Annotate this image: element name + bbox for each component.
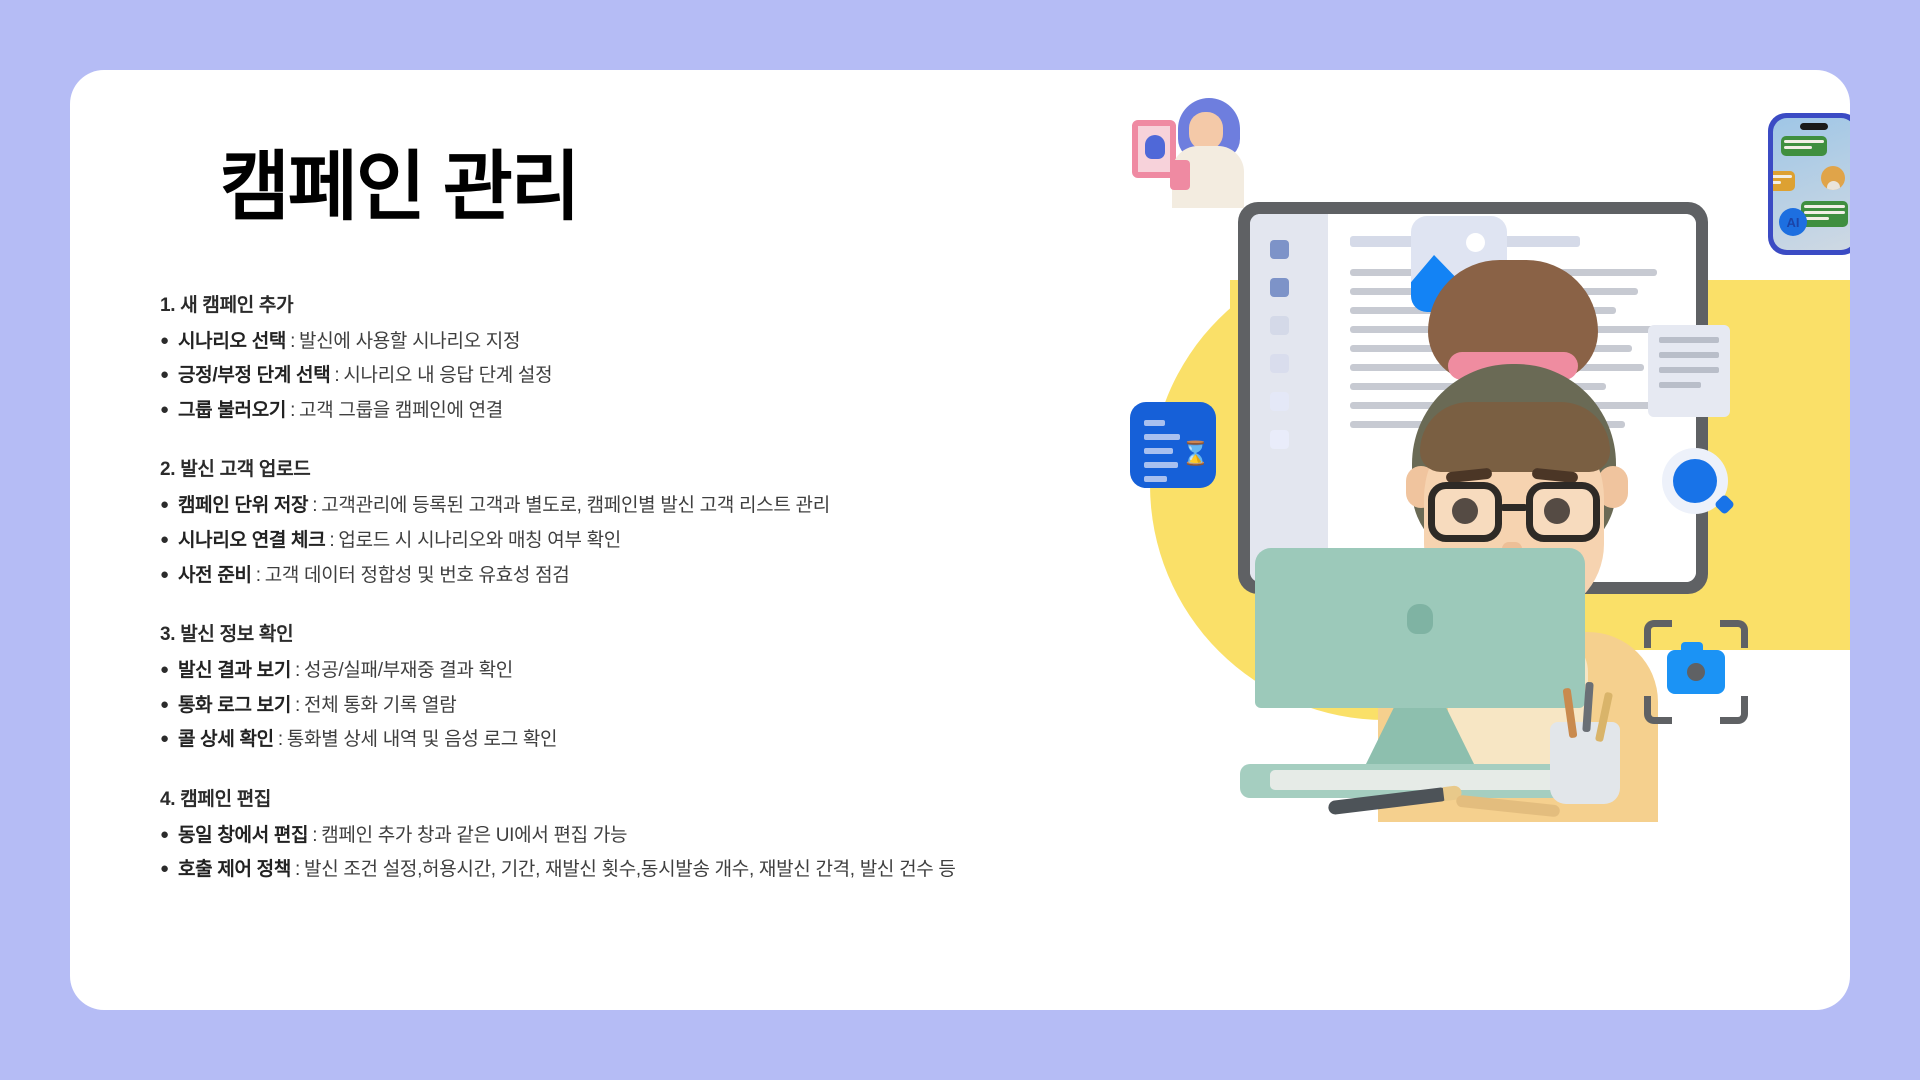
keyboard-icon xyxy=(1270,770,1570,790)
sidebar-square-icon xyxy=(1270,278,1289,297)
doc-line xyxy=(1144,476,1167,482)
chat-bubble-icon xyxy=(1781,136,1827,156)
list-item: ● 동일 창에서 편집 : 캠페인 추가 창과 같은 UI에서 편집 가능 xyxy=(160,822,1240,850)
bullet-list: ● 발신 결과 보기 : 성공/실패/부재중 결과 확인 ● 통화 로그 보기 … xyxy=(160,657,1240,754)
bullet-list: ● 동일 창에서 편집 : 캠페인 추가 창과 같은 UI에서 편집 가능 ● … xyxy=(160,822,1240,884)
doc-line xyxy=(1144,420,1165,426)
character-fringe xyxy=(1420,402,1610,472)
hourglass-icon: ⌛ xyxy=(1181,442,1199,468)
avatar-icon xyxy=(1821,166,1845,190)
bullet-description: 고객관리에 등록된 고객과 별도로, 캠페인별 발신 고객 리스트 관리 xyxy=(321,492,830,520)
bullet-dot-icon: ● xyxy=(160,532,178,547)
bullet-term: 그룹 불러오기 xyxy=(178,397,286,425)
scan-corner xyxy=(1720,696,1748,724)
bullet-description: 성공/실패/부재중 결과 확인 xyxy=(304,657,513,685)
bullet-description: 발신 조건 설정,허용시간, 기간, 재발신 횟수,동시발송 개수, 재발신 간… xyxy=(304,856,956,884)
bullet-term: 호출 제어 정책 xyxy=(178,856,291,884)
frame-figure xyxy=(1145,135,1165,159)
list-item: ● 시나리오 연결 체크 : 업로드 시 시나리오와 매칭 여부 확인 xyxy=(160,527,1240,555)
bullet-separator: : xyxy=(291,657,304,685)
laptop-screen xyxy=(1255,548,1585,708)
blue-document-icon: ⌛ xyxy=(1130,402,1216,488)
ai-badge-icon: AI xyxy=(1779,208,1807,236)
bullet-dot-icon: ● xyxy=(160,567,178,582)
phone-screen: AI xyxy=(1773,118,1850,250)
bullet-term: 사전 준비 xyxy=(178,562,252,590)
bullet-description: 통화별 상세 내역 및 음성 로그 확인 xyxy=(287,726,557,754)
bullet-dot-icon: ● xyxy=(160,367,178,382)
bullet-description: 전체 통화 기록 열람 xyxy=(304,692,456,720)
list-item: ● 긍정/부정 단계 선택 : 시나리오 내 응답 단계 설정 xyxy=(160,362,1240,390)
bullet-separator: : xyxy=(308,492,321,520)
bullet-dot-icon: ● xyxy=(160,827,178,842)
camera-scan-frame-icon xyxy=(1644,620,1748,724)
bullet-term: 시나리오 연결 체크 xyxy=(178,527,325,555)
mini-person-illustration xyxy=(1132,98,1242,208)
bullet-separator: : xyxy=(291,856,304,884)
camera-lens xyxy=(1687,663,1705,681)
bullet-description: 고객 데이터 정합성 및 번호 유효성 점검 xyxy=(265,562,570,590)
bullet-term: 시나리오 선택 xyxy=(178,328,286,356)
bullet-term: 발신 결과 보기 xyxy=(178,657,291,685)
bullet-dot-icon: ● xyxy=(160,333,178,348)
section-heading: 1. 새 캠페인 추가 xyxy=(160,290,1240,317)
list-item: ● 시나리오 선택 : 발신에 사용할 시나리오 지정 xyxy=(160,328,1240,356)
glasses-lens-right xyxy=(1526,482,1600,542)
phone-notch xyxy=(1800,123,1828,130)
bullet-term: 동일 창에서 편집 xyxy=(178,822,308,850)
list-item: ● 캠페인 단위 저장 : 고객관리에 등록된 고객과 별도로, 캠페인별 발신… xyxy=(160,492,1240,520)
list-item: ● 사전 준비 : 고객 데이터 정합성 및 번호 유효성 점검 xyxy=(160,562,1240,590)
sidebar-square-icon xyxy=(1270,430,1289,449)
bullet-dot-icon: ● xyxy=(160,731,178,746)
bullet-list: ● 시나리오 선택 : 발신에 사용할 시나리오 지정 ● 긍정/부정 단계 선… xyxy=(160,328,1240,425)
bullet-term: 통화 로그 보기 xyxy=(178,692,291,720)
mini-person-face xyxy=(1189,112,1223,150)
bullet-description: 고객 그룹을 캠페인에 연결 xyxy=(299,397,503,425)
section-heading: 4. 캠페인 편집 xyxy=(160,784,1240,811)
section-edit-campaign: 4. 캠페인 편집 ● 동일 창에서 편집 : 캠페인 추가 창과 같은 UI에… xyxy=(160,784,1240,884)
monitor-sidebar xyxy=(1250,214,1328,582)
content-column: 캠페인 관리 1. 새 캠페인 추가 ● 시나리오 선택 : 발신에 사용할 시… xyxy=(160,130,1240,884)
glasses-lens-left xyxy=(1428,482,1502,542)
sidebar-square-icon xyxy=(1270,316,1289,335)
bullet-dot-icon: ● xyxy=(160,497,178,512)
section-new-campaign: 1. 새 캠페인 추가 ● 시나리오 선택 : 발신에 사용할 시나리오 지정 … xyxy=(160,290,1240,425)
bullet-dot-icon: ● xyxy=(160,402,178,417)
illustration-3d-workspace: AI ⌛ xyxy=(1120,70,1850,1010)
scan-corner xyxy=(1644,696,1672,724)
scan-corner xyxy=(1644,620,1672,648)
section-heading: 3. 발신 정보 확인 xyxy=(160,619,1240,646)
mini-person-phone xyxy=(1170,160,1190,190)
pencil-cup-icon xyxy=(1550,722,1620,804)
bullet-dot-icon: ● xyxy=(160,697,178,712)
glasses-icon xyxy=(1428,482,1600,544)
doc-line xyxy=(1144,434,1180,440)
slide-card: 캠페인 관리 1. 새 캠페인 추가 ● 시나리오 선택 : 발신에 사용할 시… xyxy=(70,70,1850,1010)
glasses-bridge xyxy=(1500,504,1528,511)
sun-icon xyxy=(1466,233,1485,252)
bullet-separator: : xyxy=(252,562,265,590)
sidebar-square-icon xyxy=(1270,392,1289,411)
bullet-term: 긍정/부정 단계 선택 xyxy=(178,362,330,390)
sidebar-square-icon xyxy=(1270,354,1289,373)
scan-corner xyxy=(1720,620,1748,648)
section-heading: 2. 발신 고객 업로드 xyxy=(160,454,1240,481)
bullet-description: 캠페인 추가 창과 같은 UI에서 편집 가능 xyxy=(321,822,627,850)
chat-bubble-icon xyxy=(1801,201,1848,227)
doc-line xyxy=(1144,448,1173,454)
bullet-description: 발신에 사용할 시나리오 지정 xyxy=(299,328,520,356)
bullet-list: ● 캠페인 단위 저장 : 고객관리에 등록된 고객과 별도로, 캠페인별 발신… xyxy=(160,492,1240,589)
bullet-term: 콜 상세 확인 xyxy=(178,726,274,754)
bullet-dot-icon: ● xyxy=(160,662,178,677)
bullet-term: 캠페인 단위 저장 xyxy=(178,492,308,520)
bullet-description: 업로드 시 시나리오와 매칭 여부 확인 xyxy=(338,527,621,555)
list-item: ● 그룹 불러오기 : 고객 그룹을 캠페인에 연결 xyxy=(160,397,1240,425)
section-upload-customers: 2. 발신 고객 업로드 ● 캠페인 단위 저장 : 고객관리에 등록된 고객과… xyxy=(160,454,1240,589)
list-item: ● 발신 결과 보기 : 성공/실패/부재중 결과 확인 xyxy=(160,657,1240,685)
camera-icon xyxy=(1667,650,1725,694)
bullet-separator: : xyxy=(308,822,321,850)
list-item: ● 콜 상세 확인 : 통화별 상세 내역 및 음성 로그 확인 xyxy=(160,726,1240,754)
chat-bubble-icon xyxy=(1773,171,1795,191)
sidebar-square-icon xyxy=(1270,240,1289,259)
list-item: ● 통화 로그 보기 : 전체 통화 기록 열람 xyxy=(160,692,1240,720)
doc-line xyxy=(1144,462,1178,468)
bullet-separator: : xyxy=(286,328,299,356)
page-title: 캠페인 관리 xyxy=(220,148,1240,228)
apple-logo-icon xyxy=(1407,604,1433,634)
list-item: ● 호출 제어 정책 : 발신 조건 설정,허용시간, 기간, 재발신 횟수,동… xyxy=(160,856,1240,884)
bullet-description: 시나리오 내 응답 단계 설정 xyxy=(343,362,552,390)
section-call-info: 3. 발신 정보 확인 ● 발신 결과 보기 : 성공/실패/부재중 결과 확인… xyxy=(160,619,1240,754)
bullet-separator: : xyxy=(330,362,343,390)
bullet-dot-icon: ● xyxy=(160,861,178,876)
smartphone-icon: AI xyxy=(1768,113,1850,255)
bullet-separator: : xyxy=(325,527,338,555)
bullet-separator: : xyxy=(286,397,299,425)
bullet-separator: : xyxy=(274,726,287,754)
bullet-separator: : xyxy=(291,692,304,720)
